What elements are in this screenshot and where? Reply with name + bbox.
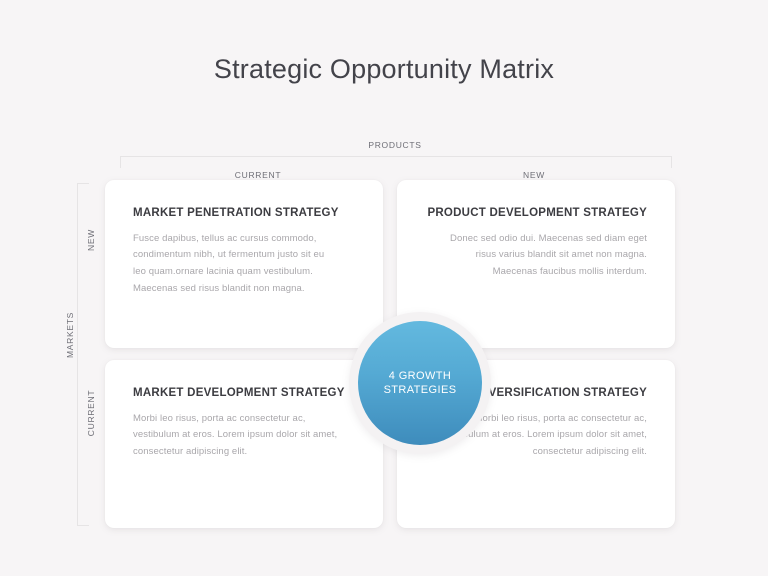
axis-left-title: MARKETS [65,295,75,375]
strategy-matrix: PRODUCTS CURRENT NEW MARKETS NEW CURRENT… [55,140,675,535]
axis-left-label-current: CURRENT [86,373,96,453]
axis-top-title: PRODUCTS [115,140,675,150]
axis-left-label-new: NEW [86,200,96,280]
center-hub-ring: 4 GROWTH STRATEGIES [349,312,491,454]
quadrant-title: PRODUCT DEVELOPMENT STRATEGY [425,206,647,222]
quadrant-market-development[interactable]: MARKET DEVELOPMENT STRATEGY Morbi leo ri… [105,360,383,528]
center-hub-label: 4 GROWTH STRATEGIES [384,369,457,398]
quadrant-market-penetration[interactable]: MARKET PENETRATION STRATEGY Fusce dapibu… [105,180,383,348]
quadrant-body: Donec sed odio dui. Maecenas sed diam eg… [442,231,647,282]
center-hub[interactable]: 4 GROWTH STRATEGIES [358,321,482,445]
quadrant-title: MARKET DEVELOPMENT STRATEGY [133,386,355,402]
quadrant-title: MARKET PENETRATION STRATEGY [133,206,355,222]
quadrant-grid: MARKET PENETRATION STRATEGY Fusce dapibu… [105,180,675,528]
page-title: Strategic Opportunity Matrix [0,54,768,85]
axis-top-label-current: CURRENT [120,170,396,180]
quadrant-body: Morbi leo risus, porta ac consectetur ac… [133,411,343,462]
axis-top-label-new: NEW [396,170,672,180]
axis-top-bracket [120,156,672,168]
quadrant-body: Fusce dapibus, tellus ac cursus commodo,… [133,231,338,299]
